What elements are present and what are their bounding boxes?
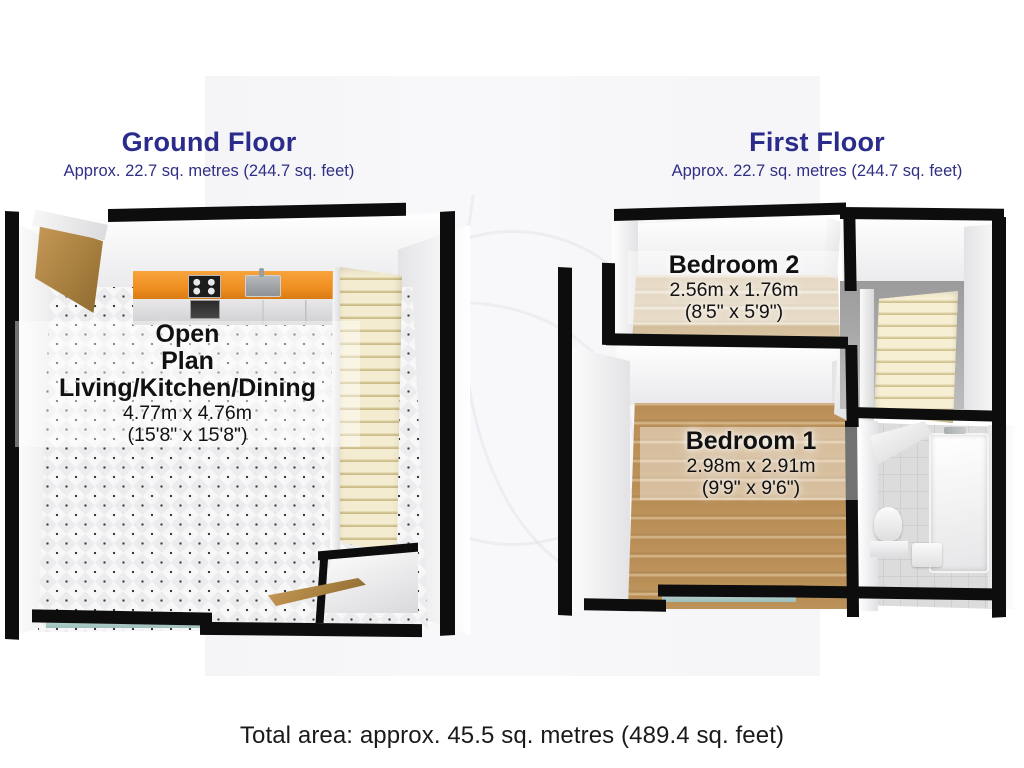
first-exterior-wall-bottom-mid [658, 584, 804, 597]
first-floor-title: First Floor [608, 128, 1024, 158]
open-plan-line-1: Open [15, 321, 360, 348]
ground-floor-heading: Ground Floor Approx. 22.7 sq. metres (24… [0, 128, 418, 181]
open-plan-line-2: Plan [15, 348, 360, 375]
oven-icon [190, 300, 220, 319]
ground-exterior-wall-bottom-right [200, 622, 422, 637]
bed2-landing-partition [843, 215, 856, 291]
room-label-open-plan: Open Plan Living/Kitchen/Dining 4.77m x … [15, 321, 360, 447]
bedroom2-dim-metric: 2.56m x 1.76m [628, 280, 840, 302]
bath-taps-icon [944, 427, 966, 434]
first-exterior-wall-bottom-left [584, 598, 666, 611]
bedroom2-name: Bedroom 2 [628, 251, 840, 279]
tap-icon [259, 268, 264, 277]
open-plan-dim-imperial: (15'8" x 15'8") [15, 425, 360, 447]
bedroom1-dim-metric: 2.98m x 2.91m [640, 456, 862, 478]
sink-icon [245, 275, 281, 297]
open-plan-dim-metric: 4.77m x 4.76m [15, 403, 360, 425]
total-area-text: Total area: approx. 45.5 sq. metres (489… [0, 722, 1024, 750]
bed1-left-wall [564, 345, 630, 613]
bed1-back-wall [612, 343, 854, 405]
kitchen-worktop [133, 271, 348, 299]
first-exterior-wall-top-right [840, 207, 1004, 221]
open-plan-line-3: Living/Kitchen/Dining [15, 375, 360, 402]
ground-floor-area: Approx. 22.7 sq. metres (244.7 sq. feet) [0, 162, 418, 181]
ground-exterior-wall-right [440, 211, 455, 636]
landing-bathroom-partition [856, 407, 1006, 422]
first-exterior-wall-left [558, 267, 572, 616]
first-exterior-wall-right [992, 217, 1006, 618]
first-floor-heading: First Floor Approx. 22.7 sq. metres (244… [608, 128, 1024, 181]
ground-floor-plan[interactable]: Open Plan Living/Kitchen/Dining 4.77m x … [0, 195, 500, 655]
toilet-cistern-icon [870, 541, 908, 557]
first-floor-area: Approx. 22.7 sq. metres (244.7 sq. feet) [608, 162, 1024, 181]
hob-icon [188, 275, 221, 298]
bedroom1-dim-imperial: (9'9" x 9'6") [640, 478, 862, 500]
room-label-bedroom-1: Bedroom 1 2.98m x 2.91m (9'9" x 9'6") [640, 427, 862, 500]
staircase-down[interactable] [874, 291, 958, 423]
basin-icon [912, 543, 942, 567]
first-floor-plan[interactable]: Bedroom 2 2.56m x 1.76m (8'5" x 5'9") Be… [540, 195, 1024, 655]
room-label-bedroom-2: Bedroom 2 2.56m x 1.76m (8'5" x 5'9") [628, 251, 840, 324]
bedroom1-name: Bedroom 1 [640, 427, 862, 455]
bedroom2-dim-imperial: (8'5" x 5'9") [628, 302, 840, 324]
toilet-icon [874, 507, 902, 541]
floor-plan-page: Ground Floor Approx. 22.7 sq. metres (24… [0, 0, 1024, 768]
ground-floor-title: Ground Floor [0, 128, 418, 158]
